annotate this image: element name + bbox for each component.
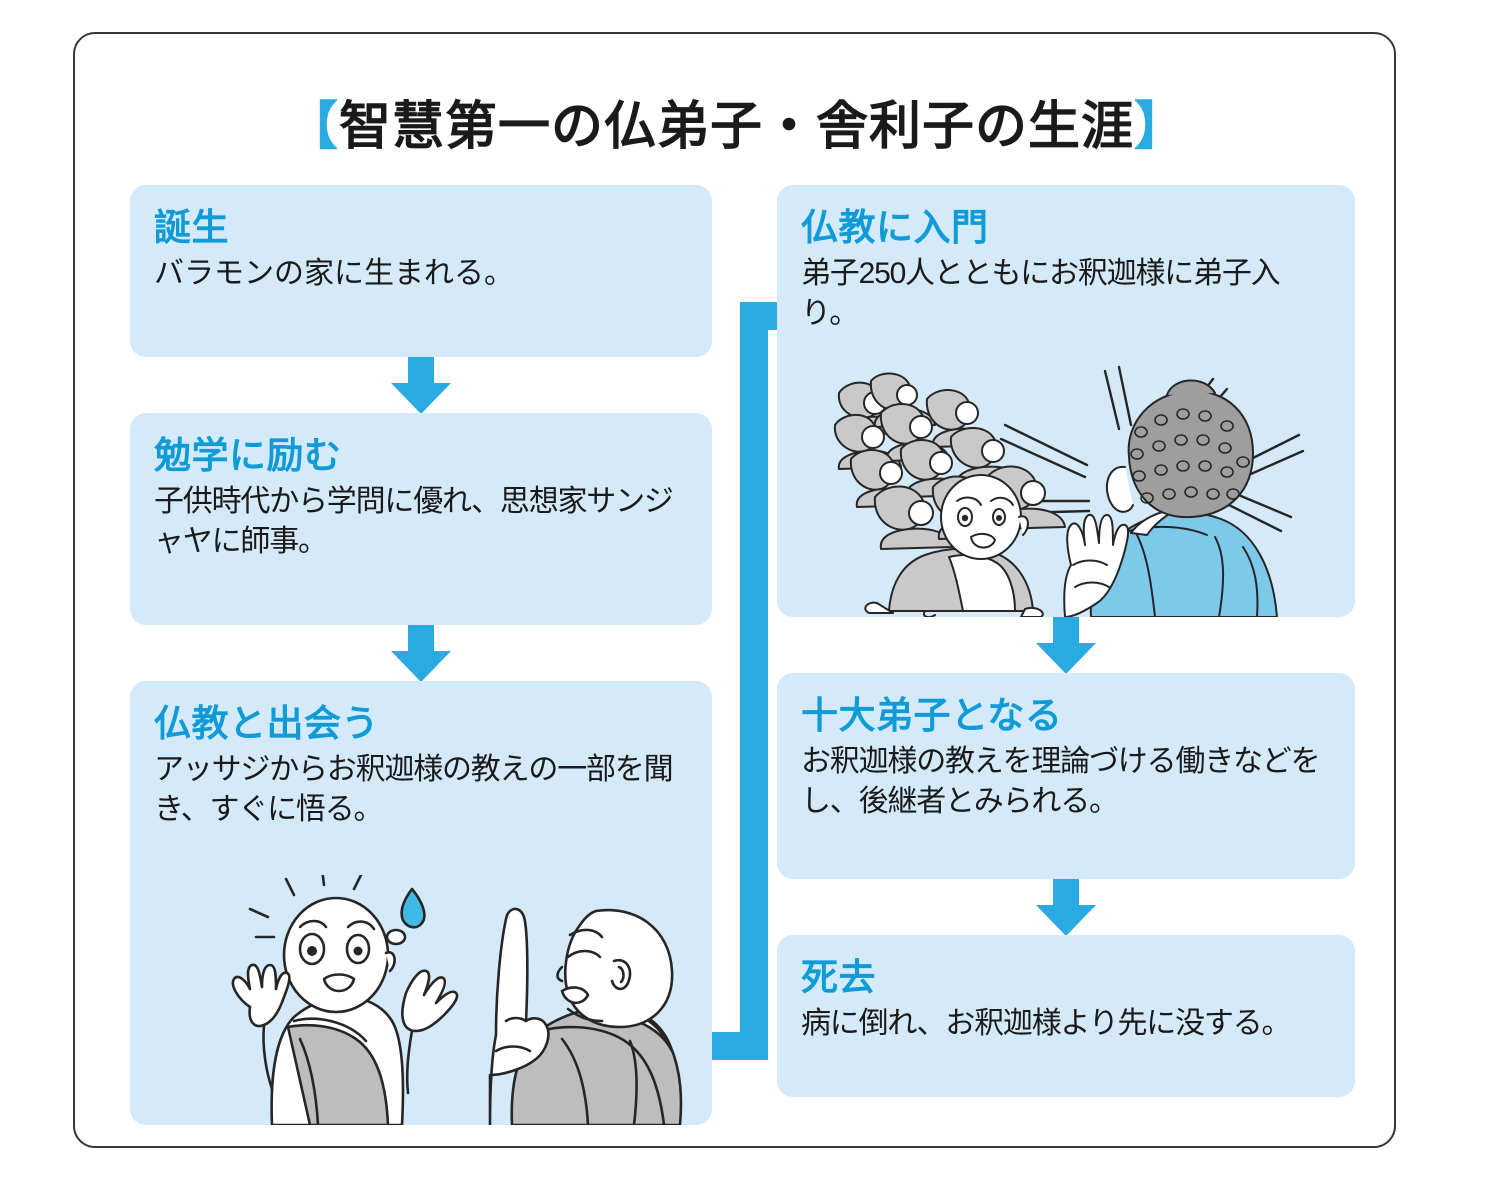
step-body-ten-disciples: お釈迦様の教えを理論づける働きなどをし、後継者とみられる。 xyxy=(801,742,1331,821)
step-body-birth: バラモンの家に生まれる。 xyxy=(154,254,688,294)
arrow-head xyxy=(391,383,451,414)
step-heading-ten-disciples: 十大弟子となる xyxy=(801,695,1331,736)
arrow-down-icon-right-2 xyxy=(777,879,1355,935)
left-column: 誕生 バラモンの家に生まれる。 勉学に励む 子供時代から学問に優れ、思想家サンジ… xyxy=(130,185,712,1125)
step-card-birth[interactable]: 誕生 バラモンの家に生まれる。 xyxy=(130,185,712,357)
title-text: 智慧第一の仏弟子・舎利子の生涯 xyxy=(339,96,1134,157)
step-heading-enter-buddhism: 仏教に入門 xyxy=(801,207,1331,248)
step-heading-birth: 誕生 xyxy=(154,207,688,248)
step-body-study: 子供時代から学問に優れ、思想家サンジャヤに師事。 xyxy=(154,482,688,561)
page-title: 【智慧第一の仏弟子・舎利子の生涯】 xyxy=(75,84,1398,159)
arrow-head xyxy=(1036,643,1096,674)
arrow-down-icon-left-1 xyxy=(130,357,712,413)
step-card-study[interactable]: 勉学に励む 子供時代から学問に優れ、思想家サンジャヤに師事。 xyxy=(130,413,712,625)
step-body-death: 病に倒れ、お釈迦様より先に没する。 xyxy=(801,1004,1331,1044)
step-heading-encounter: 仏教と出会う xyxy=(154,703,688,744)
arrow-shaft xyxy=(408,357,434,385)
buddha-and-disciples-illustration xyxy=(829,365,1355,617)
arrow-down-icon-left-2 xyxy=(130,625,712,681)
step-body-enter-buddhism: 弟子250人とともにお釈迦様に弟子入り。 xyxy=(801,254,1331,333)
right-column: 仏教に入門 弟子250人とともにお釈迦様に弟子入り。 xyxy=(777,185,1355,1097)
title-bracket-open: 【 xyxy=(286,96,339,157)
step-heading-death: 死去 xyxy=(801,957,1331,998)
step-card-encounter[interactable]: 仏教と出会う アッサジからお釈迦様の教えの一部を聞き、すぐに悟る。 xyxy=(130,681,712,1125)
step-heading-study: 勉学に励む xyxy=(154,435,688,476)
infographic-frame: 【智慧第一の仏弟子・舎利子の生涯】 誕生 バラモンの家に生まれる。 勉学に励む … xyxy=(73,32,1396,1148)
arrow-down-icon-right-1 xyxy=(777,617,1355,673)
arrow-head xyxy=(1036,905,1096,936)
arrow-head xyxy=(391,651,451,682)
arrow-shaft xyxy=(408,625,434,653)
arrow-shaft xyxy=(1053,617,1079,645)
step-card-enter-buddhism[interactable]: 仏教に入門 弟子250人とともにお釈迦様に弟子入り。 xyxy=(777,185,1355,617)
title-bracket-close: 】 xyxy=(1134,96,1187,157)
step-card-death[interactable]: 死去 病に倒れ、お釈迦様より先に没する。 xyxy=(777,935,1355,1097)
step-card-ten-disciples[interactable]: 十大弟子となる お釈迦様の教えを理論づける働きなどをし、後継者とみられる。 xyxy=(777,673,1355,879)
arrow-shaft xyxy=(1053,879,1079,907)
step-body-encounter: アッサジからお釈迦様の教えの一部を聞き、すぐに悟る。 xyxy=(154,750,688,829)
two-monks-surprise-illustration xyxy=(190,875,712,1125)
